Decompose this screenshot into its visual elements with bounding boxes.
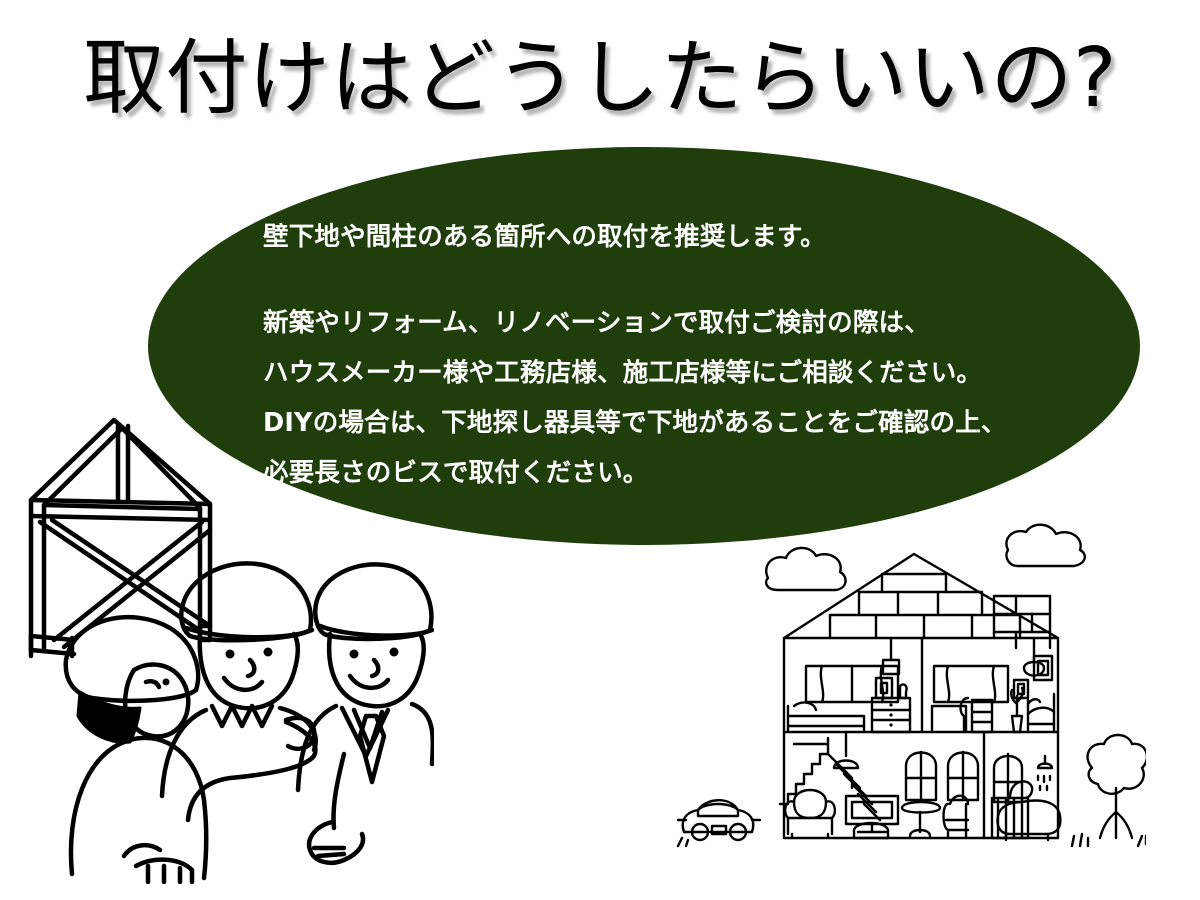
construction-workers-illustration [14, 404, 434, 884]
cloud-icon-left [766, 548, 845, 590]
room-living [780, 732, 978, 838]
chimney [994, 596, 1050, 648]
tree-icon [1088, 735, 1146, 838]
callout-line-spacer [263, 268, 1083, 304]
page-title: 取付けはどうしたらいいの? [0, 38, 1200, 120]
slide-canvas: 取付けはどうしたらいいの? 壁下地や間柱のある箇所への取付を推奨します。 新築や… [0, 0, 1200, 900]
callout-line-1: 壁下地や間柱のある箇所への取付を推奨します。 [263, 218, 1083, 268]
radiator [992, 781, 1032, 838]
worker-figure-left [66, 617, 207, 882]
callout-line-2: 新築やリフォーム、リノベーションで取付ご検討の際は、 [263, 304, 1083, 354]
room-bedroom-right [932, 638, 1054, 732]
grass-tufts [678, 834, 1146, 846]
cutaway-house-illustration [676, 520, 1146, 872]
room-bedroom-left [788, 638, 910, 732]
car-icon [678, 800, 760, 840]
worker-figure-right [298, 564, 433, 862]
callout-line-3: ハウスメーカー様や工務店様、施工店様等にご相談ください。 [263, 354, 1083, 404]
cloud-icon-right [1006, 525, 1084, 566]
